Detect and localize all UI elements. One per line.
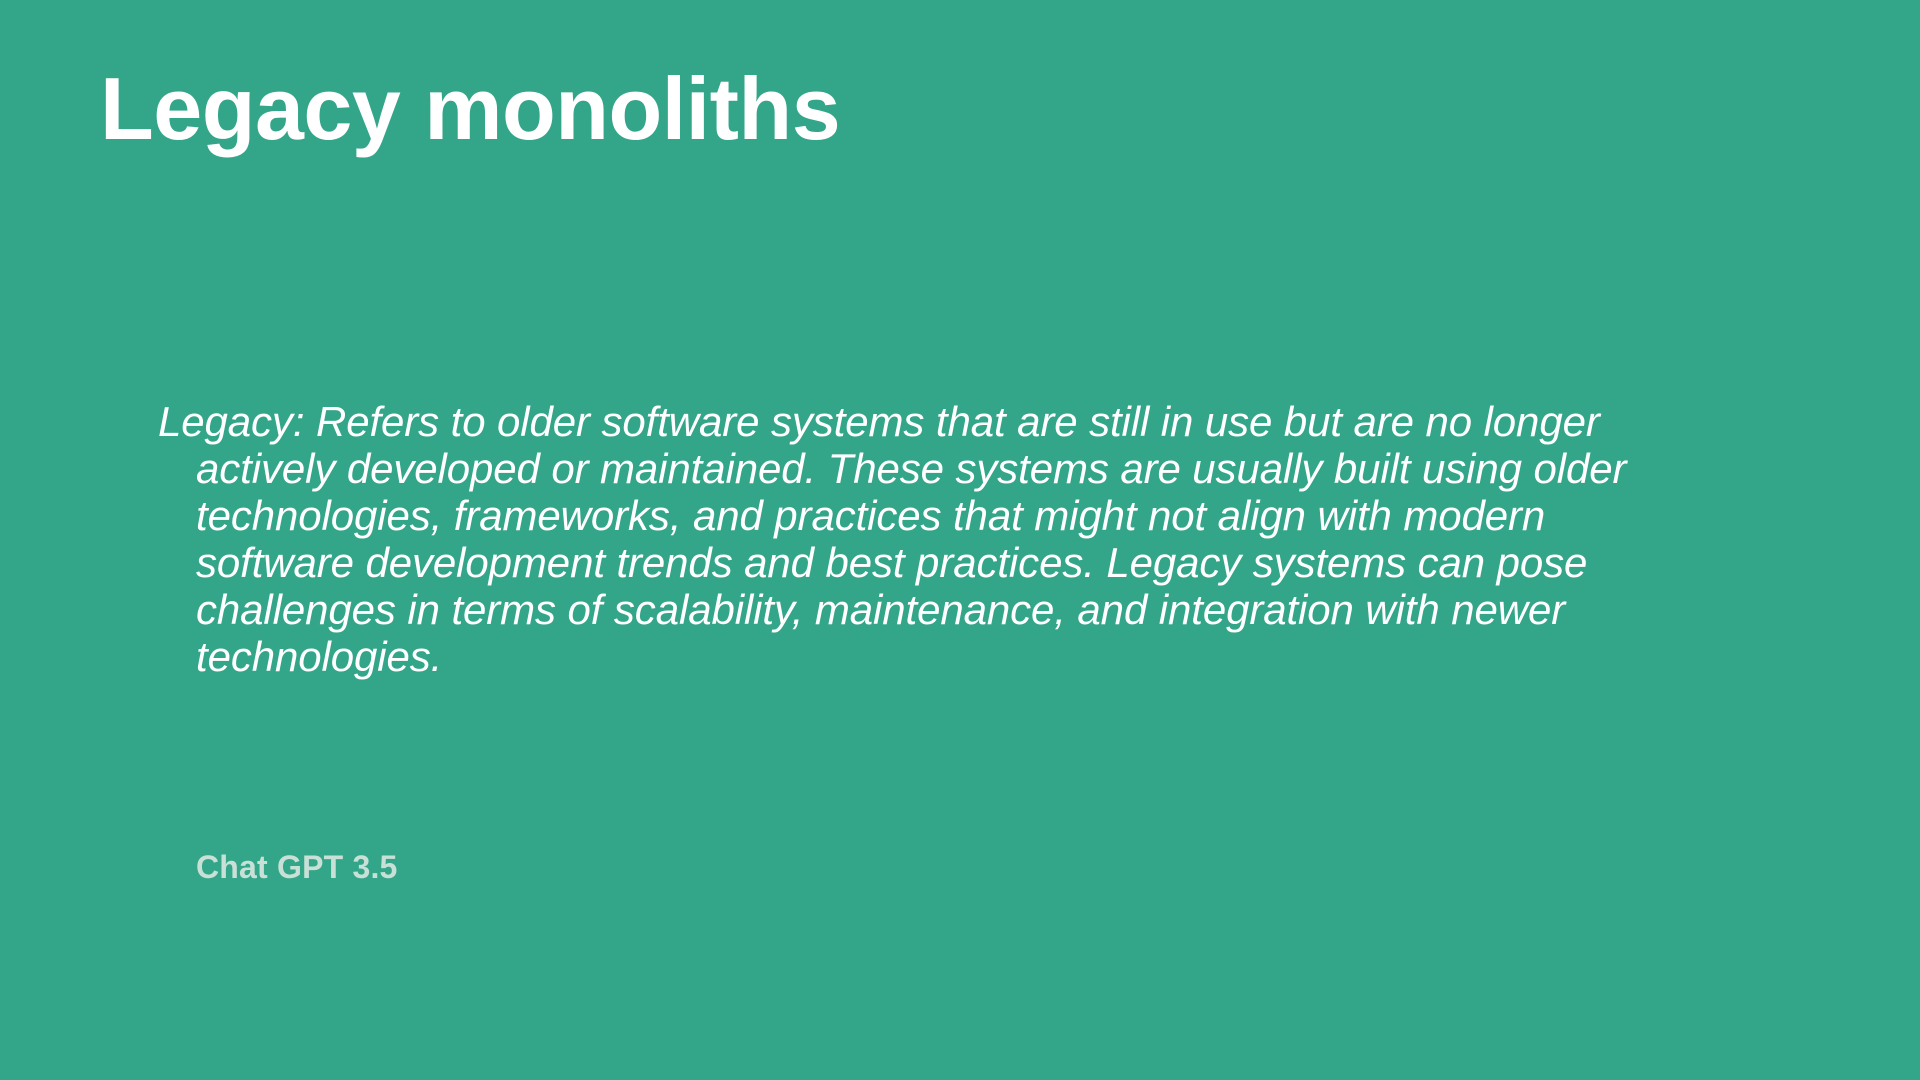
slide-body-block: Legacy: Refers to older software systems… <box>158 398 1688 680</box>
attribution-label: Chat GPT 3.5 <box>196 848 398 886</box>
presentation-slide: Legacy monoliths Legacy: Refers to older… <box>0 0 1920 1080</box>
slide-title: Legacy monoliths <box>100 62 840 155</box>
slide-body-text: Legacy: Refers to older software systems… <box>158 398 1688 680</box>
